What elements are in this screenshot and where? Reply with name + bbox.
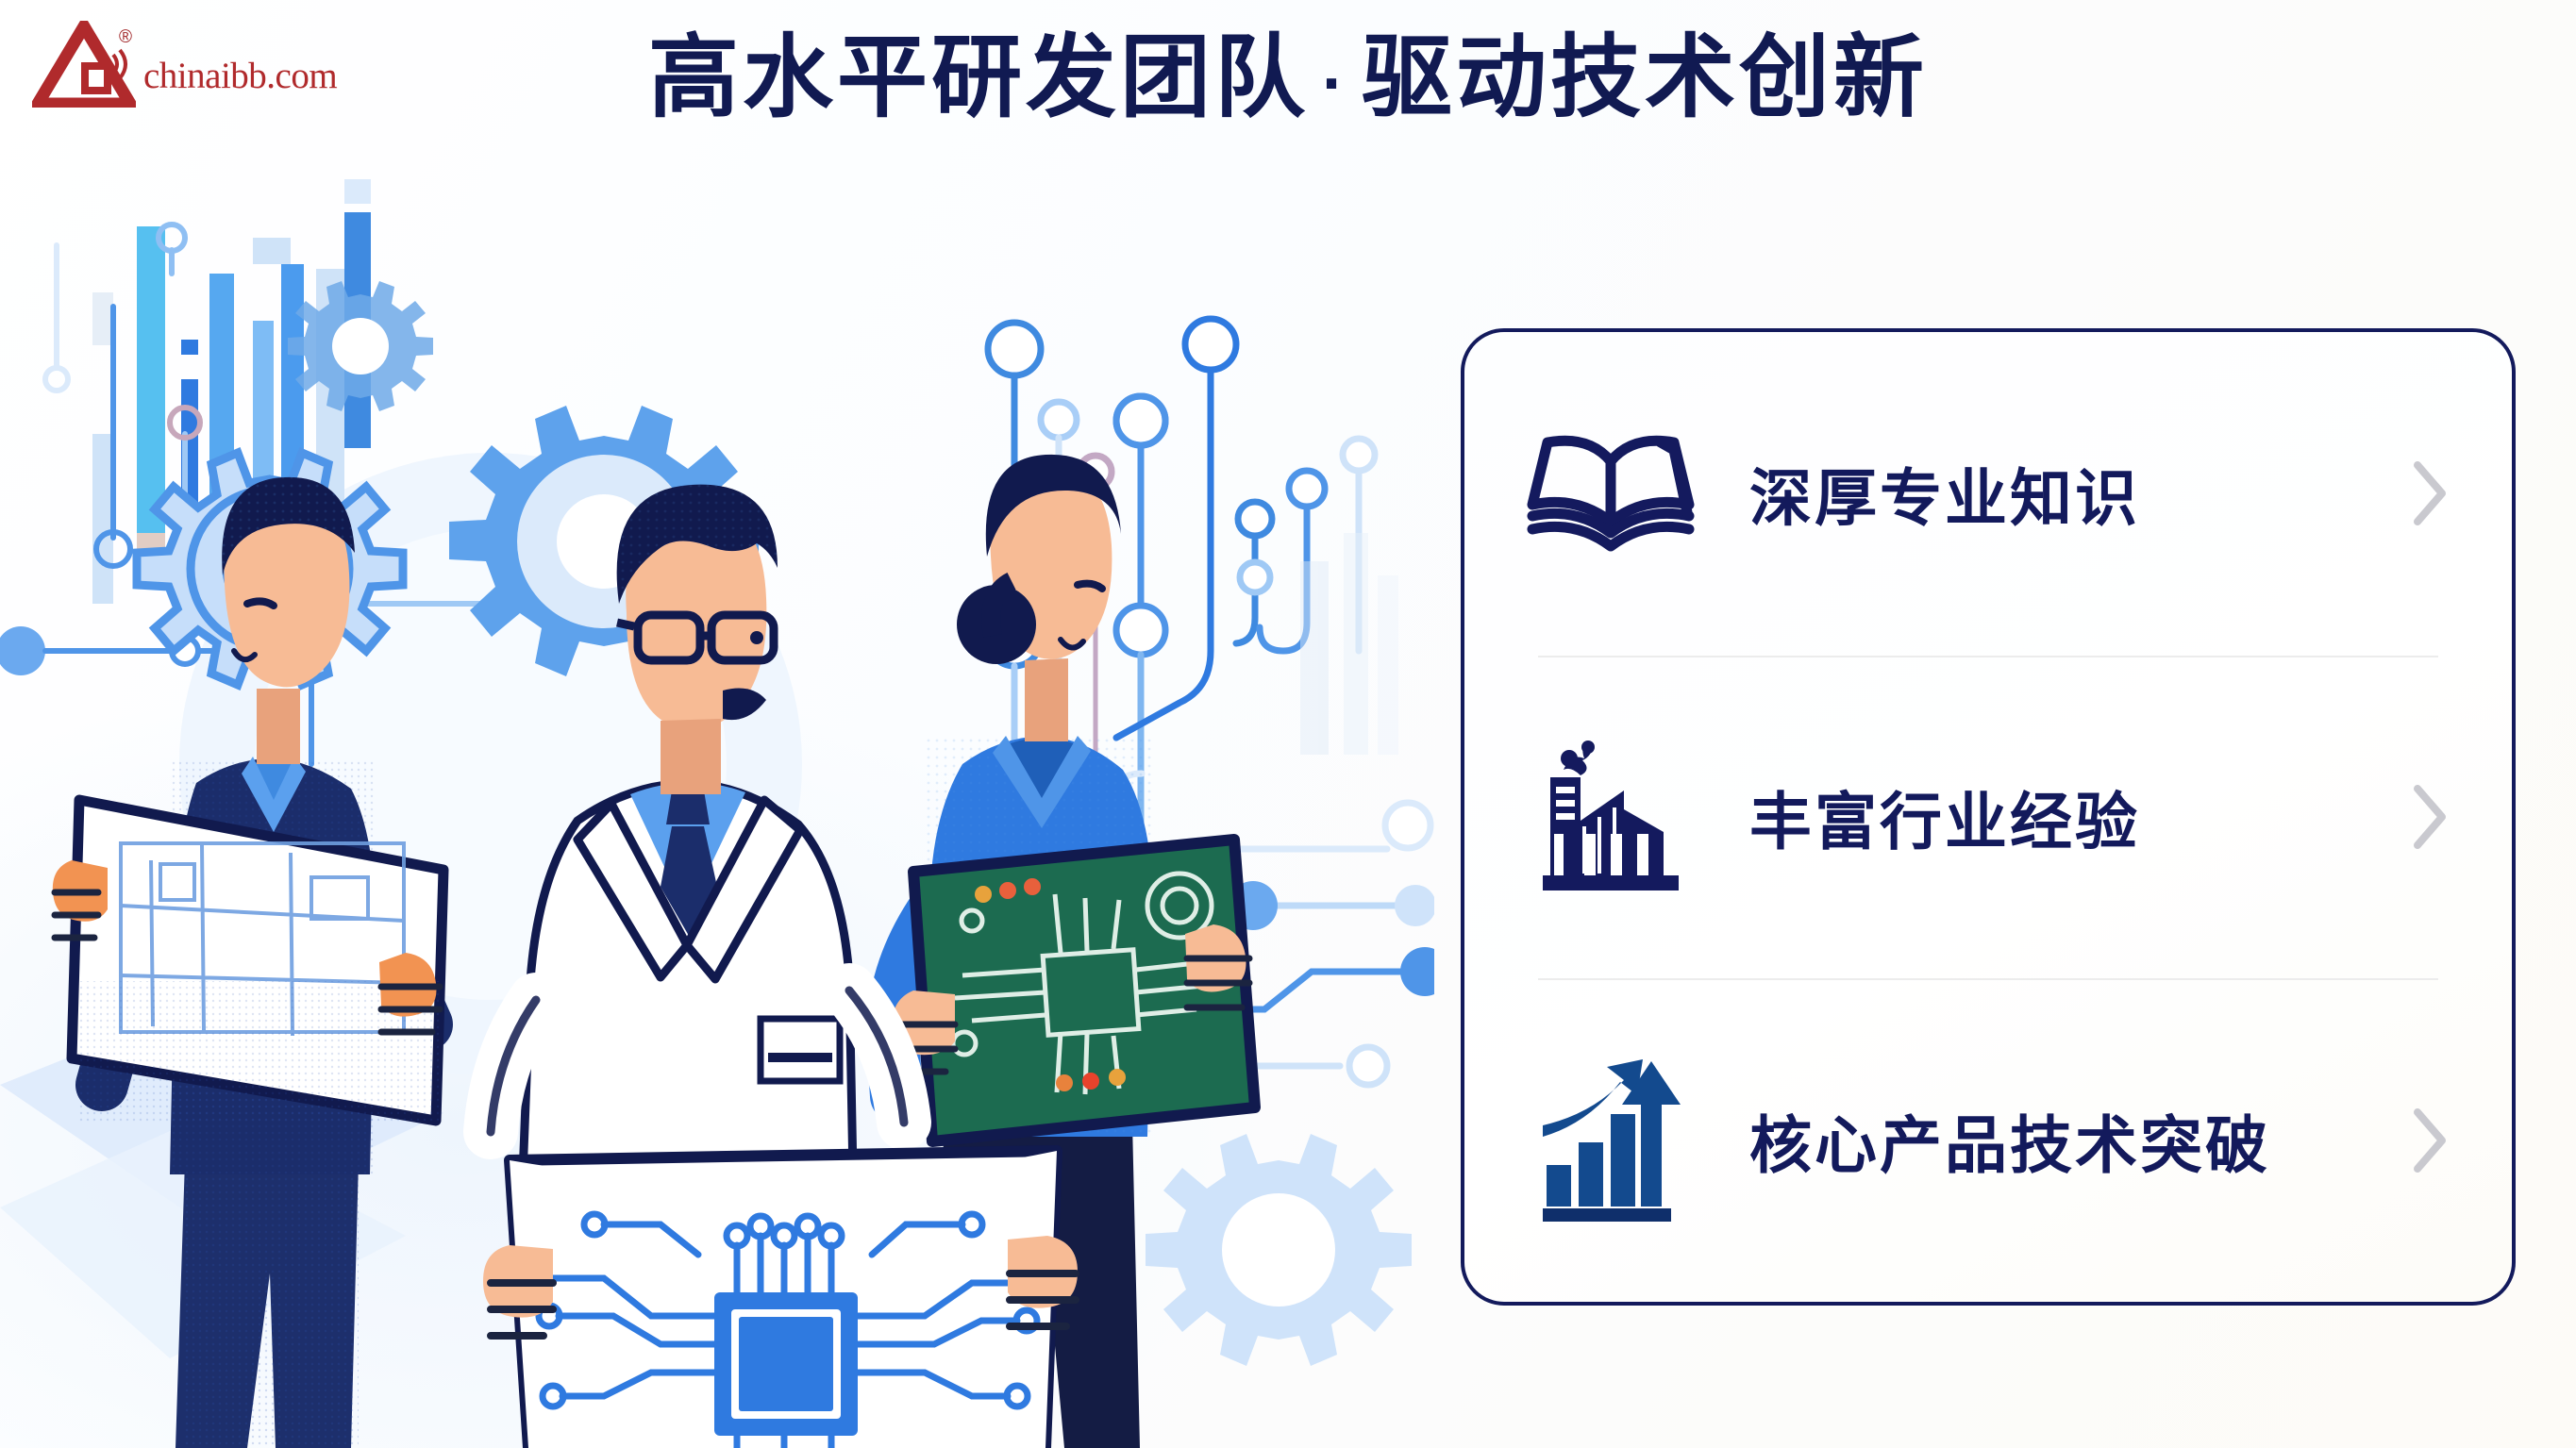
feature-panel: 深厚专业知识 (1461, 328, 2516, 1306)
factory-icon (1514, 727, 1708, 907)
feature-row-industry-experience[interactable]: 丰富行业经验 (1514, 656, 2463, 979)
chevron-right-icon[interactable] (2397, 779, 2463, 855)
team-illustration (0, 160, 1434, 1448)
title-left-text: 高水平研发团队 (648, 27, 1309, 128)
feature-label: 丰富行业经验 (1749, 772, 2355, 862)
page-title: 高水平研发团队·驱动技术创新 (0, 0, 2576, 128)
feature-label: 核心产品技术突破 (1749, 1095, 2355, 1186)
title-separator-dot: · (1309, 46, 1362, 122)
poster-canvas: ® chinaibb.com 高水平研发团队·驱动技术创新 (0, 0, 2576, 1448)
open-book-icon (1514, 404, 1708, 583)
chevron-right-icon[interactable] (2397, 1103, 2463, 1178)
feature-list: 深厚专业知识 (1464, 332, 2512, 1302)
feature-row-deep-expertise[interactable]: 深厚专业知识 (1514, 332, 2463, 656)
growth-chart-icon (1514, 1051, 1708, 1230)
feature-label: 深厚专业知识 (1749, 448, 2355, 539)
chip-schematic-blueprint (483, 1151, 1078, 1448)
chevron-right-icon[interactable] (2397, 456, 2463, 531)
feature-row-core-tech-breakthrough[interactable]: 核心产品技术突破 (1514, 978, 2463, 1302)
green-pcb-board (893, 840, 1255, 1141)
title-right-text: 驱动技术创新 (1362, 27, 1928, 128)
